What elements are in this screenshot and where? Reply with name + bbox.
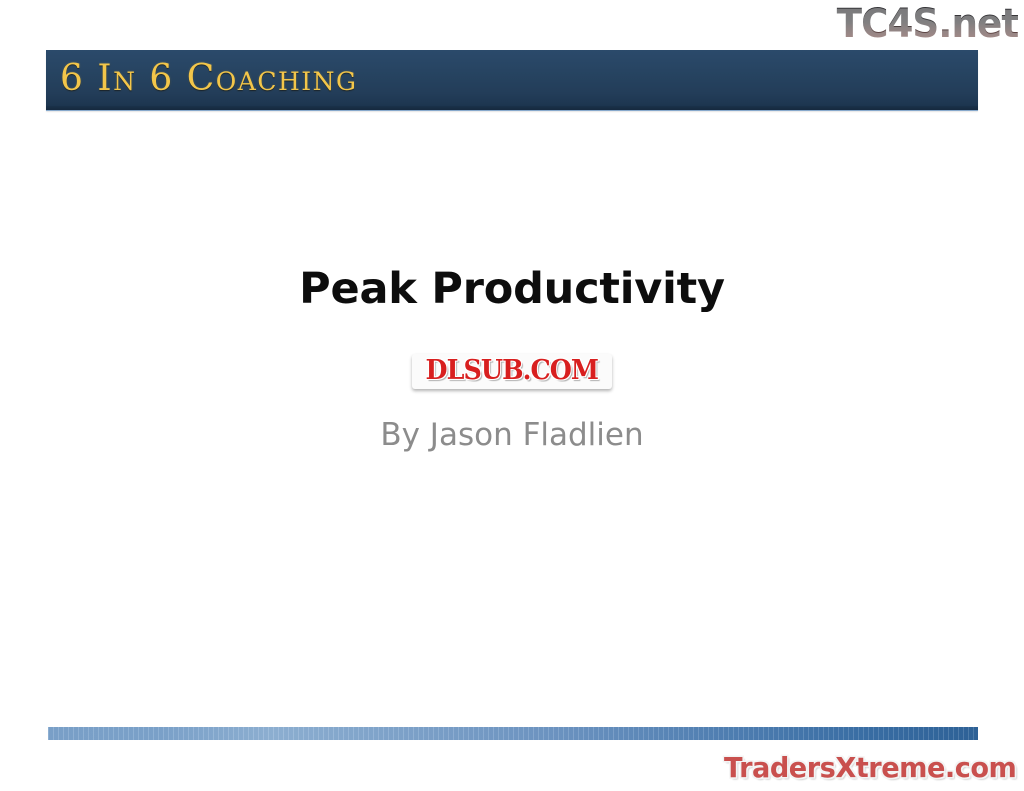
tradersxtreme-watermark: TradersXtreme.com — [724, 751, 1016, 785]
footer-divider — [48, 727, 978, 740]
slide-content: Peak Productivity DLSUB.COM By Jason Fla… — [0, 262, 1024, 454]
page-title: Peak Productivity — [0, 262, 1024, 316]
slide-author: By Jason Fladlien — [0, 416, 1024, 454]
dlsub-watermark-text: DLSUB.COM — [426, 356, 599, 386]
header-banner: 6 In 6 Coaching — [46, 50, 978, 110]
presentation-slide: TC4S.net 6 In 6 Coaching Peak Productivi… — [0, 0, 1024, 791]
tc4s-watermark: TC4S.net — [836, 2, 1018, 46]
dlsub-watermark-container: DLSUB.COM — [0, 354, 1024, 390]
banner-title: 6 In 6 Coaching — [60, 59, 357, 99]
dlsub-watermark: DLSUB.COM — [412, 354, 612, 389]
